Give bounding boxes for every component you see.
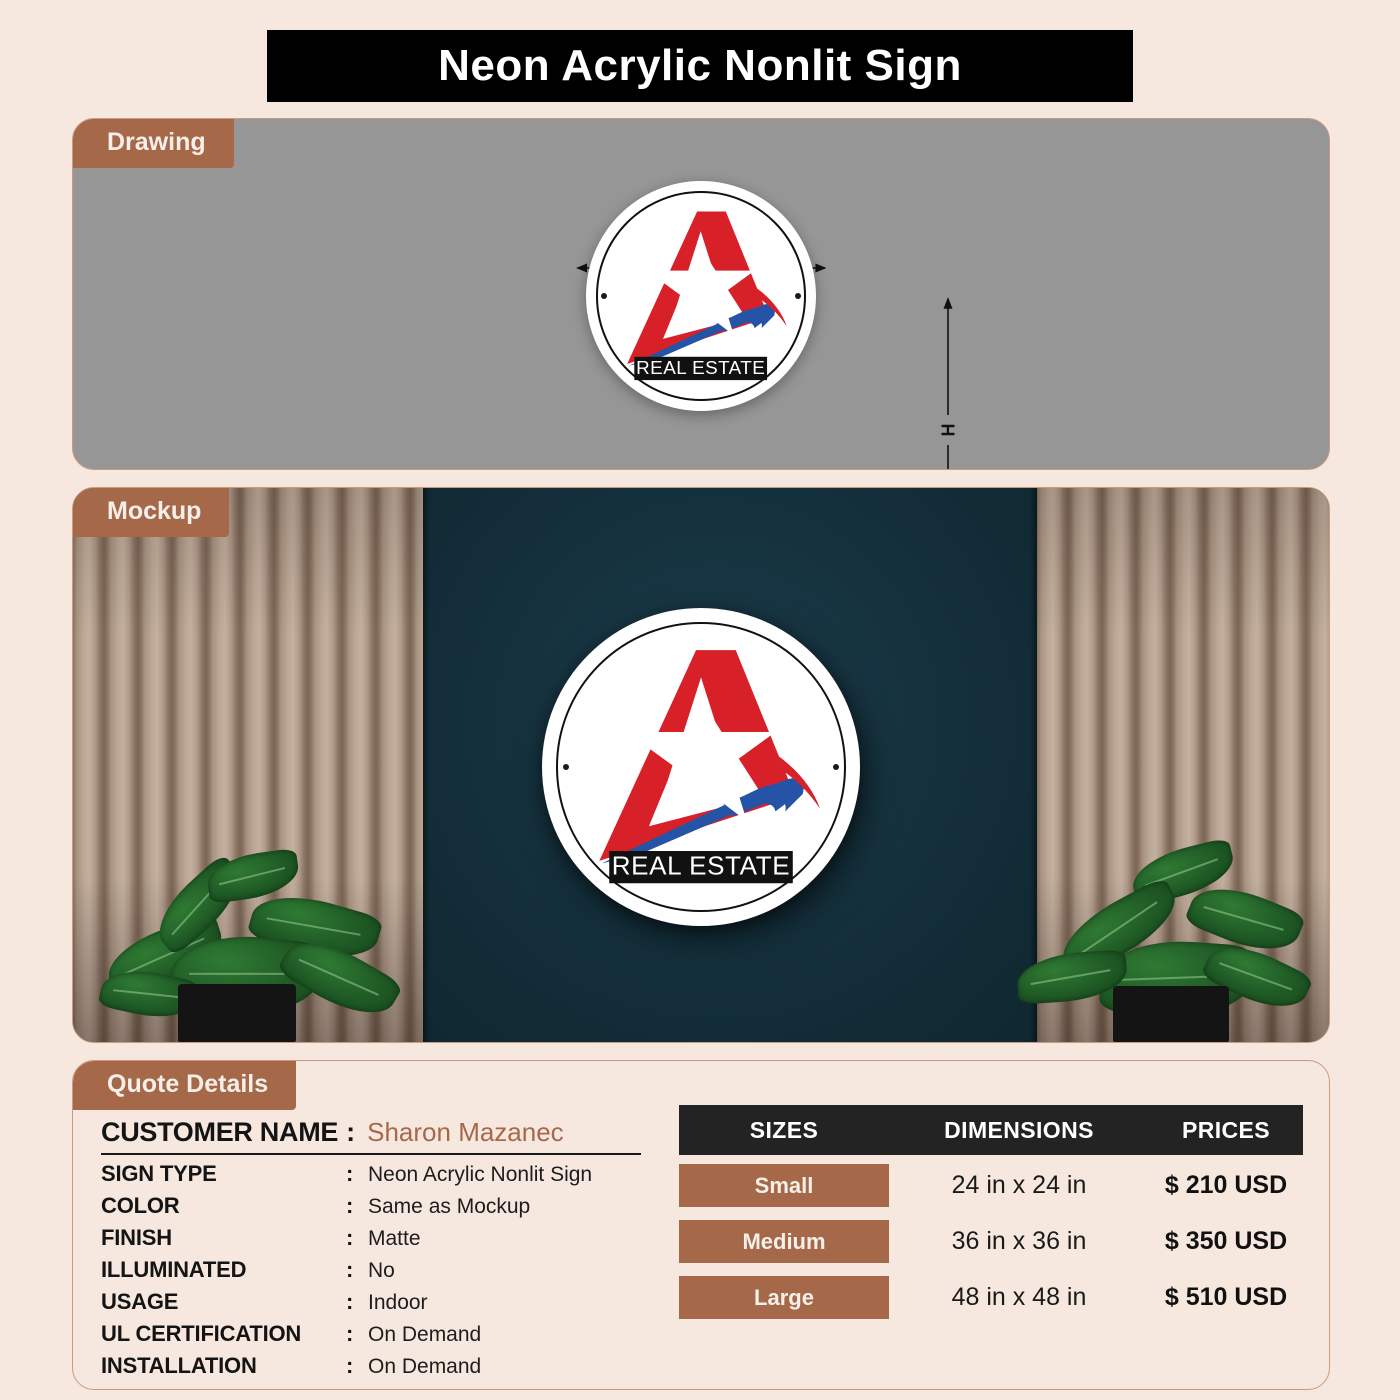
dimension-value: 36 in x 36 in: [889, 1227, 1149, 1256]
spec-colon: :: [346, 1385, 368, 1390]
spec-colon: :: [346, 1289, 368, 1315]
spec-colon: :: [346, 1353, 368, 1379]
dimension-value: 48 in x 48 in: [889, 1283, 1149, 1312]
spec-row: PERMIT : On Demand: [101, 1385, 673, 1390]
mounting-bolt-right-icon: [795, 293, 801, 299]
sign-mockup-preview: REAL ESTATE: [542, 608, 860, 926]
page-title-bar: Neon Acrylic Nonlit Sign: [267, 30, 1133, 102]
spec-label: INSTALLATION: [101, 1353, 346, 1379]
height-label: H: [939, 424, 957, 437]
size-chip-large: Large: [679, 1276, 889, 1319]
drawing-section-tab: Drawing: [73, 119, 234, 168]
sign-disc: REAL ESTATE: [586, 181, 816, 411]
spec-colon: :: [346, 1225, 368, 1251]
real-estate-logo-mockup: REAL ESTATE: [577, 637, 825, 891]
table-row[interactable]: Small 24 in x 24 in $ 210 USD: [679, 1160, 1303, 1211]
spec-label: SIGN TYPE: [101, 1161, 346, 1187]
spec-colon: :: [346, 1161, 368, 1187]
drawing-stage: W H: [73, 119, 1329, 469]
svg-text:REAL ESTATE: REAL ESTATE: [612, 850, 790, 880]
height-arrow-down-icon: [941, 445, 955, 470]
quote-details-section-tab: Quote Details: [73, 1061, 296, 1110]
svg-text:REAL ESTATE: REAL ESTATE: [636, 357, 765, 378]
spec-colon: :: [346, 1193, 368, 1219]
customer-name-colon: :: [346, 1117, 355, 1148]
plant-leaf: [204, 848, 301, 904]
spec-colon: :: [346, 1257, 368, 1283]
size-chip-medium: Medium: [679, 1220, 889, 1263]
spec-colon: :: [346, 1321, 368, 1347]
spec-label: FINISH: [101, 1225, 346, 1251]
spec-label: ILLUMINATED: [101, 1257, 346, 1283]
price-value: $ 350 USD: [1149, 1227, 1303, 1256]
size-chip-small: Small: [679, 1164, 889, 1207]
customer-name-label: CUSTOMER NAME: [101, 1117, 338, 1148]
column-header-dimensions: DIMENSIONS: [889, 1117, 1149, 1144]
spec-value: Same as Mockup: [368, 1195, 530, 1219]
spec-row: FINISH : Matte: [101, 1225, 673, 1251]
mockup-section-tab: Mockup: [73, 488, 229, 537]
drawing-panel: W H: [72, 118, 1330, 470]
page-title: Neon Acrylic Nonlit Sign: [438, 44, 962, 88]
spec-row: ILLUMINATED : No: [101, 1257, 673, 1283]
mounting-bolt-left-icon: [563, 764, 569, 770]
column-header-prices: PRICES: [1149, 1117, 1303, 1144]
mounting-bolt-right-icon: [833, 764, 839, 770]
table-row[interactable]: Large 48 in x 48 in $ 510 USD: [679, 1272, 1303, 1323]
spec-label: UL CERTIFICATION: [101, 1321, 346, 1347]
spec-label: USAGE: [101, 1289, 346, 1315]
specifications-list: CUSTOMER NAME : Sharon Mazanec SIGN TYPE…: [73, 1061, 673, 1389]
sign-disc-mockup: REAL ESTATE: [542, 608, 860, 926]
customer-name-row: CUSTOMER NAME : Sharon Mazanec: [101, 1117, 641, 1155]
table-row[interactable]: Medium 36 in x 36 in $ 350 USD: [679, 1216, 1303, 1267]
spec-label: COLOR: [101, 1193, 346, 1219]
spec-value: On Demand: [368, 1387, 481, 1390]
real-estate-logo: REAL ESTATE: [611, 202, 790, 386]
dimension-value: 24 in x 24 in: [889, 1171, 1149, 1200]
pricing-table-header: SIZES DIMENSIONS PRICES: [679, 1105, 1303, 1155]
mounting-bolt-left-icon: [601, 293, 607, 299]
sign-drawing-preview: REAL ESTATE: [586, 181, 816, 411]
potted-plant-left: [101, 812, 411, 1042]
spec-row: USAGE : Indoor: [101, 1289, 673, 1315]
quote-details-panel: CUSTOMER NAME : Sharon Mazanec SIGN TYPE…: [72, 1060, 1330, 1390]
mockup-panel: REAL ESTATE Mockup: [72, 487, 1330, 1043]
spec-row: INSTALLATION : On Demand: [101, 1353, 673, 1379]
spec-value: Indoor: [368, 1291, 428, 1315]
spec-row: UL CERTIFICATION : On Demand: [101, 1321, 673, 1347]
height-arrow-up-icon: [941, 297, 955, 415]
spec-row: COLOR : Same as Mockup: [101, 1193, 673, 1219]
column-header-sizes: SIZES: [679, 1117, 889, 1144]
plant-pot: [1113, 986, 1229, 1042]
potted-plant-right: [1009, 827, 1309, 1042]
price-value: $ 510 USD: [1149, 1283, 1303, 1312]
spec-row: SIGN TYPE : Neon Acrylic Nonlit Sign: [101, 1161, 673, 1187]
mockup-stage: REAL ESTATE: [73, 488, 1329, 1042]
plant-pot: [178, 984, 296, 1042]
spec-value: No: [368, 1259, 395, 1283]
spec-value: Matte: [368, 1227, 421, 1251]
spec-value: On Demand: [368, 1323, 481, 1347]
spec-label: PERMIT: [101, 1385, 346, 1390]
pricing-table: SIZES DIMENSIONS PRICES Small 24 in x 24…: [673, 1061, 1329, 1389]
price-value: $ 210 USD: [1149, 1171, 1303, 1200]
customer-name-value: Sharon Mazanec: [367, 1117, 564, 1148]
spec-value: Neon Acrylic Nonlit Sign: [368, 1163, 592, 1187]
spec-value: On Demand: [368, 1355, 481, 1379]
height-dimension: H: [938, 297, 958, 470]
